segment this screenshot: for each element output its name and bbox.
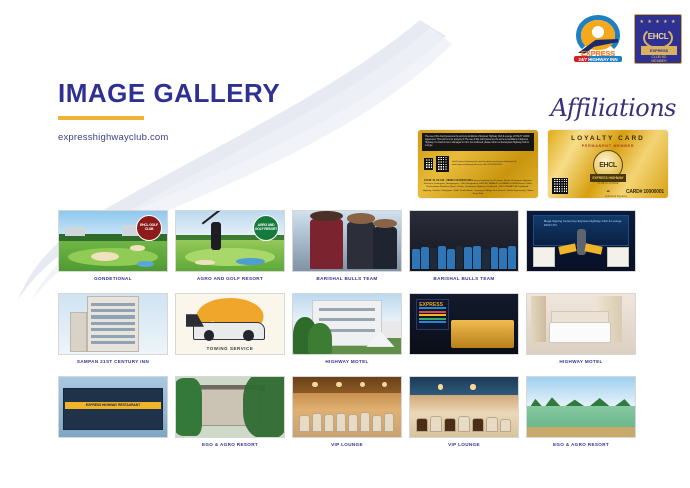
gallery-item[interactable]: TOWING SERVICE [175,293,285,369]
thumbnail-lounge-interior-wide[interactable] [409,376,519,438]
card-address-lines: Express Highway Inn & Lounge, Dhaka-Chat… [423,180,534,195]
gallery-item[interactable]: HIGHWAY MOTEL [526,293,636,369]
stage-screen-text: Mega Signing Ceremony Express Highway Cl… [544,219,628,228]
towing-service-label: TOWING SERVICE [176,346,284,351]
dining-chairs-row [299,408,394,432]
header-block: IMAGE GALLERY expresshighwayclub.com [58,80,378,143]
thumbnail-stage-presentation[interactable]: Mega Signing Ceremony Express Highway Cl… [526,210,636,272]
gallery-caption: GONDETIONAL [58,276,168,286]
gallery-caption [526,276,636,286]
loyalty-card-back: The use of this Card presumes the terms … [418,130,538,198]
gallery-caption: HIGHWAY MOTEL [292,359,402,369]
golf-club-badge-icon: EHCL GOLF CLUB [136,215,162,241]
gallery-caption [175,359,285,369]
restaurant-signboard: EXPRESS HIGHWAY RESTAURANT [65,402,160,409]
award-monogram: EHCL [635,32,681,41]
card-address-head: CLUB: 01 XX 134 - 58999 / 01XXXXX 999 [424,179,471,182]
thumbnail-hotel-room-bed[interactable] [526,293,636,355]
gallery-item[interactable]: HIGHWAY MOTEL [292,293,402,369]
gallery-item[interactable]: EXPRESS HIGHWAY RESTAURANT [58,376,168,452]
card-qr-area: info@expresshighwayclub.com facebook.com… [424,156,538,172]
thumbnail-apartment-tower[interactable] [58,293,168,355]
gallery-item[interactable]: Mega Signing Ceremony Express Highway Cl… [526,210,636,286]
express-highway-club-logo-icon: EXPRESS 24/7 HIGHWAY INN [572,14,624,66]
card-terms-text: The use of this Card presumes the terms … [422,133,534,151]
loyalty-card-subtitle: PERMANENT MEMBER [548,144,668,148]
gallery-item[interactable]: VIP LOUNGE [409,376,519,452]
loyalty-card-ribbon: EXPRESS HIGHWAY [590,174,626,182]
gallery-caption: HIGHWAY MOTEL [526,359,636,369]
gift-bag-right [607,247,629,267]
scan-me-qr-icon [424,158,433,170]
gallery-item[interactable]: AGRO AND GOLF RESORT AGRO AND GOLF RESOR… [175,210,285,286]
loyalty-cards-row: The use of this Card presumes the terms … [418,130,668,198]
gallery-caption: BARISHAL BULLS TEAM [292,276,402,286]
thumbnail-old-house-trees[interactable] [175,376,285,438]
gallery-caption: EGO & AGRO RESORT [175,442,285,452]
team-row [412,237,516,268]
loyalty-card-front: LOYALTY CARD PERMANENT MEMBER EHCL EXPRE… [548,130,668,198]
gallery-item[interactable]: BARISHAL BULLS TEAM [409,210,519,286]
title-underline [58,116,144,120]
gallery-caption [409,359,519,369]
qr-code-icon [436,156,448,172]
image-gallery-grid: EHCL GOLF CLUB GONDETIONAL AGRO AND GOLF… [58,210,636,452]
gallery-item[interactable]: BARISHAL BULLS TEAM [292,210,402,286]
gallery-caption: AGRO AND GOLF RESORT [175,276,285,286]
gallery-caption: VIP LOUNGE [292,442,402,452]
roadside-billboard: EXPRESS [416,299,448,330]
gallery-item[interactable]: EGO & AGRO RESORT [175,376,285,452]
gallery-caption: EGO & AGRO RESORT [526,442,636,452]
gallery-caption [58,442,168,452]
award-ribbon-sub: CLUB BD MEMBER [645,55,673,63]
gallery-caption: BARISHAL BULLS TEAM [409,276,519,286]
hotel-bed [549,322,612,344]
thumbnail-golfer-swing[interactable]: AGRO AND GOLF RESORT [175,210,285,272]
golfer-figure [211,222,221,250]
tower-building [87,296,139,351]
agro-golf-badge-icon: AGRO AND GOLF RESORT [253,215,279,241]
thumbnail-lounge-dining-hall[interactable] [292,376,402,438]
gallery-caption: SAMPAN 21ST CENTURY INN [58,359,168,369]
award-stars: ★ ★ ★ ★ ★ [635,19,681,25]
gallery-caption: VIP LOUNGE [409,442,519,452]
signature-label: Authorized Signature [598,195,634,198]
thumbnail-team-group-photo[interactable] [409,210,519,272]
page-title: IMAGE GALLERY [58,80,378,107]
thumbnail-towing-service-graphic[interactable]: TOWING SERVICE [175,293,285,355]
loyalty-card-title: LOYALTY CARD [548,135,668,142]
award-badge-icon: ★ ★ ★ ★ ★ EHCL EXPRESS HIGHWAY CLUB BD M… [634,14,682,64]
gallery-page: EXPRESS 24/7 HIGHWAY INN ★ ★ ★ ★ ★ EHCL … [0,0,690,488]
thumbnail-golf-course-aerial[interactable]: EHCL GOLF CLUB [58,210,168,272]
website-url: expresshighwayclub.com [58,132,378,143]
dining-chairs-row [416,408,511,432]
thumbnail-resort-lake-palms[interactable] [526,376,636,438]
tow-truck-icon [193,322,264,340]
logo-submark: 24/7 HIGHWAY INN [574,56,622,62]
gallery-item[interactable]: EXPRESS [409,293,519,369]
brand-logo-row: EXPRESS 24/7 HIGHWAY INN ★ ★ ★ ★ ★ EHCL … [572,14,682,66]
shopfront-sign-text: EXPRESS HIGHWAY RESTAURANT [65,402,160,408]
gallery-item[interactable]: SAMPAN 21ST CENTURY INN [58,293,168,369]
loyalty-card-number: CARD# 10000001 [626,189,664,195]
loyalty-card-qr-icon [552,178,568,194]
gift-bag-left [533,247,555,267]
gallery-item[interactable]: VIP LOUNGE [292,376,402,452]
thumbnail-restaurant-shopfront[interactable]: EXPRESS HIGHWAY RESTAURANT [58,376,168,438]
thumbnail-cricketer-portrait[interactable] [292,210,402,272]
card-address-block: CLUB: 01 XX 134 - 58999 / 01XXXXX 999 Ex… [422,179,534,196]
lit-building [451,320,514,348]
gallery-item[interactable]: EHCL GOLF CLUB GONDETIONAL [58,210,168,286]
affiliations-heading: Affiliations [550,96,676,120]
thumbnail-white-motel-building[interactable] [292,293,402,355]
gallery-item[interactable]: EGO & AGRO RESORT [526,376,636,452]
award-ribbon: EXPRESS HIGHWAY [641,46,677,55]
thumbnail-night-billboard-motel[interactable]: EXPRESS [409,293,519,355]
card-contacts: info@expresshighwayclub.com facebook.com… [452,161,538,168]
loyalty-card-ribbon-sub: CLUB & LOUNGE [593,182,623,185]
